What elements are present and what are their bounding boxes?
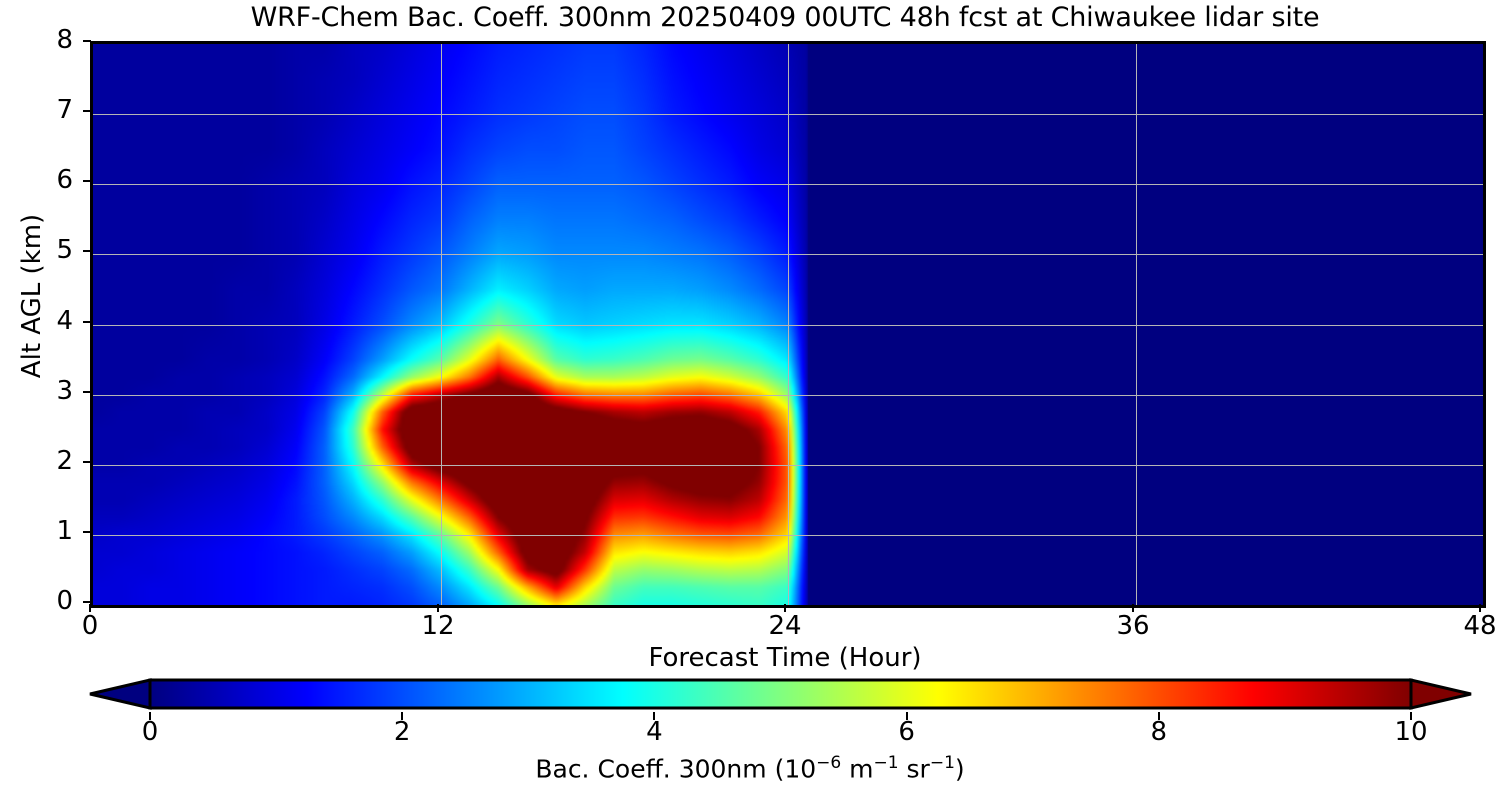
- y-tick-mark: [83, 601, 91, 603]
- y-tick-mark: [83, 110, 91, 112]
- x-axis-label: Forecast Time (Hour): [90, 643, 1480, 673]
- x-tick-label: 0: [50, 613, 130, 639]
- y-tick-mark: [83, 40, 91, 42]
- colorbar-bar: [150, 680, 1411, 708]
- y-axis-label: Alt AGL (km): [17, 86, 47, 506]
- y-tick-label: 0: [13, 588, 73, 614]
- colorbar: [88, 676, 1473, 716]
- colorbar-tick-label: 10: [1371, 719, 1451, 745]
- colorbar-tick-label: 8: [1119, 719, 1199, 745]
- figure-canvas: WRF-Chem Bac. Coeff. 300nm 20250409 00UT…: [0, 0, 1500, 800]
- x-tick-label: 48: [1440, 613, 1500, 639]
- y-tick-mark: [83, 461, 91, 463]
- y-tick-mark: [83, 180, 91, 182]
- x-tick-label: 12: [398, 613, 478, 639]
- colorbar-tick-label: 2: [362, 719, 442, 745]
- y-tick-label: 1: [13, 518, 73, 544]
- colorbar-tick-label: 0: [110, 719, 190, 745]
- colorbar-tick-label: 6: [867, 719, 947, 745]
- x-tick-label: 36: [1093, 613, 1173, 639]
- y-tick-mark: [83, 531, 91, 533]
- y-tick-mark: [83, 250, 91, 252]
- figure-title: WRF-Chem Bac. Coeff. 300nm 20250409 00UT…: [90, 2, 1480, 33]
- colorbar-over-cap: [1411, 680, 1471, 708]
- x-tick-label: 24: [745, 613, 825, 639]
- y-tick-label: 8: [13, 27, 73, 53]
- colorbar-tick-label: 4: [614, 719, 694, 745]
- colorbar-label: Bac. Coeff. 300nm (10−6 m−1 sr−1): [0, 753, 1500, 783]
- colorbar-gradient: [88, 676, 1473, 716]
- plot-axes: [90, 41, 1486, 608]
- y-tick-mark: [83, 391, 91, 393]
- colorbar-under-cap: [90, 680, 150, 708]
- heatmap-image: [93, 44, 1483, 605]
- y-tick-mark: [83, 321, 91, 323]
